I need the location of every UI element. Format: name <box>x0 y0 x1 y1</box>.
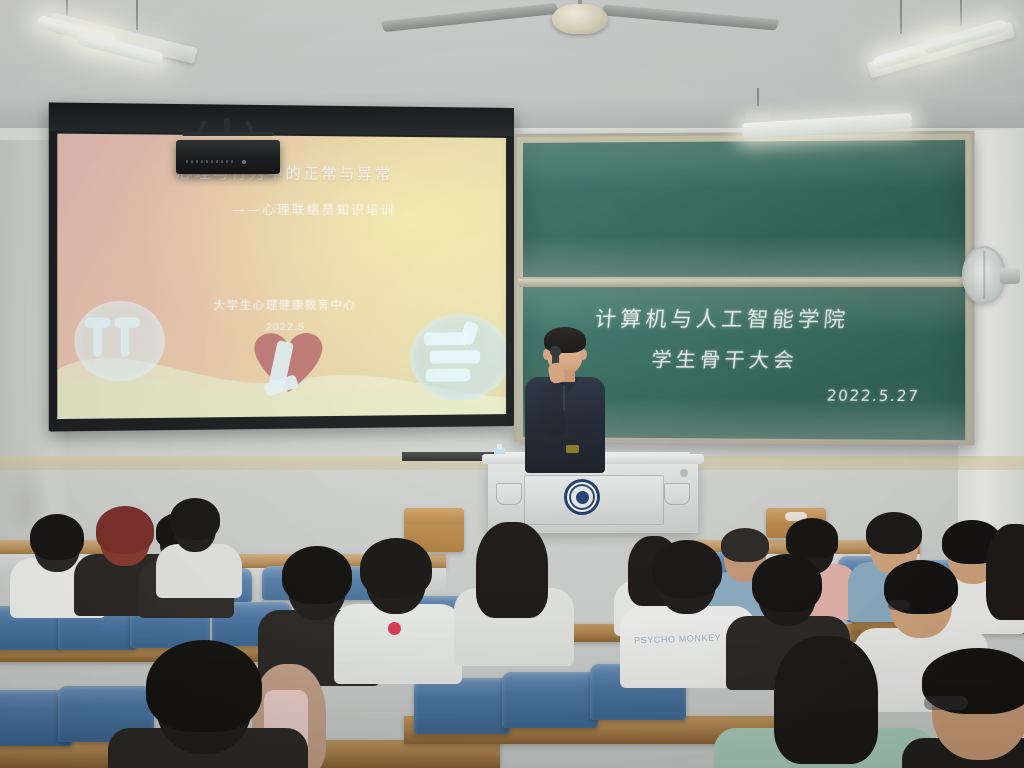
person-hair <box>282 546 352 604</box>
chalk-rail <box>519 279 969 287</box>
slide-title: 心理与行为中的正常与异常 <box>57 160 506 184</box>
ceiling-fan <box>430 0 730 48</box>
list-item: PSYCHO MONKEY <box>636 540 736 666</box>
fluorescent-lamp-right <box>860 0 1024 100</box>
list-item <box>986 524 1024 634</box>
list-item <box>744 636 914 768</box>
slide-subtitle: ——心理联络员知识培训 <box>57 198 506 219</box>
presentation-slide: 心理与行为中的正常与异常 ——心理联络员知识培训 大学生心理健康教育中心 202… <box>57 134 506 419</box>
person-hair <box>360 538 432 598</box>
blackboard-line-1: 计算机与人工智能学院 <box>594 303 851 334</box>
board-lamp-chain <box>757 88 759 108</box>
person-torso <box>156 544 242 598</box>
lectern-cup-holder <box>496 483 522 505</box>
blackboard-line-2: 学生骨干大会 <box>650 343 799 373</box>
person-hair <box>146 640 262 732</box>
glasses-icon <box>924 696 968 710</box>
lectern-cup-holder <box>664 483 690 505</box>
person-hair <box>986 524 1024 620</box>
lamp-chain <box>136 0 138 30</box>
lamp-chain <box>960 0 962 26</box>
university-crest-icon <box>564 479 600 515</box>
chalk-dust <box>523 236 965 277</box>
person-hair <box>866 512 922 554</box>
person-hair <box>774 636 878 764</box>
screen-top-frame <box>49 102 514 136</box>
person-hair <box>476 522 548 618</box>
fan-hub <box>552 4 608 34</box>
projector-led-icon <box>242 160 246 164</box>
fan-neck <box>1000 268 1020 284</box>
badge-pin-icon <box>388 622 401 635</box>
list-item <box>918 648 1024 768</box>
wall-mounted-fan <box>962 246 1020 312</box>
front-desk-edge <box>402 452 494 461</box>
projector-vent <box>186 160 234 163</box>
presenter-placket <box>563 385 565 411</box>
projection-screen: 心理与行为中的正常与异常 ——心理联络员知识培训 大学生心理健康教育中心 202… <box>49 102 514 431</box>
person-hair <box>30 514 84 560</box>
chair-back <box>404 508 464 524</box>
presenter <box>519 325 611 473</box>
list-item <box>466 522 558 646</box>
list-item <box>160 498 230 582</box>
classroom-photo: 心理与行为中的正常与异常 ——心理联络员知识培训 大学生心理健康教育中心 202… <box>0 0 1024 768</box>
team-hands-icon <box>410 314 506 401</box>
person-cap <box>786 518 838 558</box>
lamp-chain <box>900 0 902 34</box>
lectern-button[interactable] <box>680 469 688 477</box>
glasses-icon <box>888 600 910 610</box>
board-lamp-bracket <box>745 106 771 120</box>
person-hair <box>652 540 722 598</box>
list-item <box>132 640 282 768</box>
projector-mount <box>182 118 274 142</box>
presenter-ear <box>580 349 587 360</box>
seat[interactable] <box>502 672 598 728</box>
list-item <box>348 538 444 664</box>
seat[interactable] <box>414 678 510 734</box>
fluorescent-lamp-left <box>20 0 220 90</box>
chalk-dust <box>523 140 965 189</box>
person-hair <box>752 554 822 612</box>
person-hair <box>170 498 220 540</box>
bubble-people-icon <box>74 301 165 382</box>
blackboard-upper-panel <box>523 140 965 277</box>
presenter-badge <box>566 445 579 453</box>
ceiling-projector <box>176 140 280 174</box>
